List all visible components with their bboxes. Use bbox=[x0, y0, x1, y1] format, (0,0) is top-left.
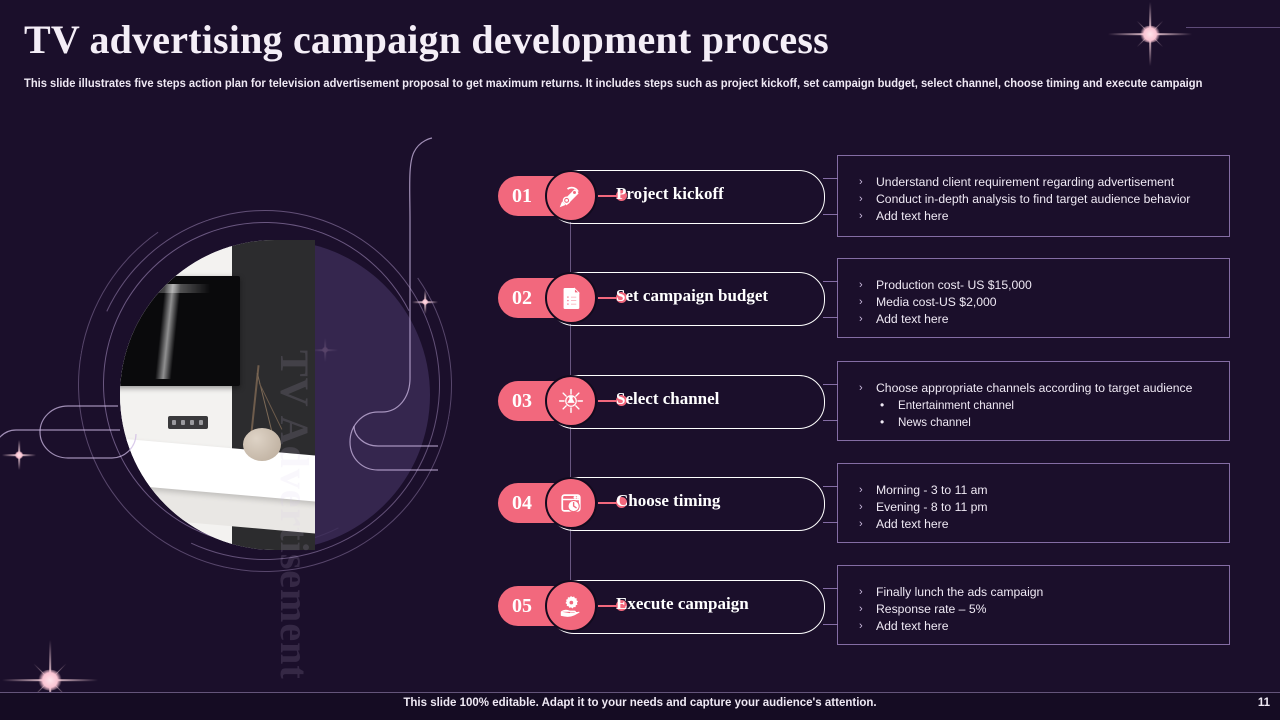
step-label-3: Select channel bbox=[616, 389, 719, 409]
chevron-right-icon: › bbox=[859, 294, 863, 311]
slide-canvas: TV advertising campaign development proc… bbox=[0, 0, 1280, 720]
browser-clock-icon bbox=[545, 477, 597, 529]
step-detail-box-4: ›Morning - 3 to 11 am ›Evening - 8 to 11… bbox=[837, 463, 1230, 543]
step-detail-box-2: ›Production cost- US $15,000 ›Media cost… bbox=[837, 258, 1230, 338]
chevron-right-icon: › bbox=[859, 601, 863, 618]
step-number-1: 01 bbox=[512, 185, 532, 208]
step-label-5: Execute campaign bbox=[616, 594, 749, 614]
step-detail-list-1: ›Understand client requirement regarding… bbox=[838, 174, 1229, 225]
broadcast-tower-icon bbox=[545, 375, 597, 427]
step-label-4: Choose timing bbox=[616, 491, 720, 511]
step-detail-list-5: ›Finally lunch the ads campaign ›Respons… bbox=[838, 584, 1229, 635]
gear-in-hand-icon bbox=[545, 580, 597, 632]
step-detail-box-3: ›Choose appropriate channels according t… bbox=[837, 361, 1230, 441]
step-detail-list-2: ›Production cost- US $15,000 ›Media cost… bbox=[838, 277, 1229, 328]
detail-item: ›Choose appropriate channels according t… bbox=[838, 380, 1229, 397]
detail-subitem: •News channel bbox=[838, 414, 1229, 431]
step-number-3: 03 bbox=[512, 390, 532, 413]
bullet-icon: • bbox=[880, 397, 884, 414]
detail-item: ›Finally lunch the ads campaign bbox=[838, 584, 1229, 601]
step-detail-box-1: ›Understand client requirement regarding… bbox=[837, 155, 1230, 237]
detail-item: ›Morning - 3 to 11 am bbox=[838, 482, 1229, 499]
chevron-right-icon: › bbox=[859, 584, 863, 601]
detail-item: ›Add text here bbox=[838, 311, 1229, 328]
detail-item: ›Response rate – 5% bbox=[838, 601, 1229, 618]
detail-item: ›Evening - 8 to 11 pm bbox=[838, 499, 1229, 516]
page-number: 11 bbox=[1258, 697, 1270, 709]
chevron-right-icon: › bbox=[859, 380, 863, 397]
step-label-1: Project kickoff bbox=[616, 184, 724, 204]
detail-item: ›Add text here bbox=[838, 516, 1229, 533]
chevron-right-icon: › bbox=[859, 174, 863, 191]
step-number-2: 02 bbox=[512, 287, 532, 310]
detail-item: ›Understand client requirement regarding… bbox=[838, 174, 1229, 191]
chevron-right-icon: › bbox=[859, 516, 863, 533]
rocket-target-icon bbox=[545, 170, 597, 222]
step-detail-list-3: ›Choose appropriate channels according t… bbox=[838, 380, 1229, 431]
step-detail-box-5: ›Finally lunch the ads campaign ›Respons… bbox=[837, 565, 1230, 645]
chevron-right-icon: › bbox=[859, 482, 863, 499]
footer-divider bbox=[0, 692, 1280, 693]
chevron-right-icon: › bbox=[859, 191, 863, 208]
document-checklist-icon bbox=[545, 272, 597, 324]
detail-item: ›Media cost-US $2,000 bbox=[838, 294, 1229, 311]
detail-subitem: •Entertainment channel bbox=[838, 397, 1229, 414]
step-label-2: Set campaign budget bbox=[616, 286, 768, 306]
chevron-right-icon: › bbox=[859, 277, 863, 294]
step-number-4: 04 bbox=[512, 492, 532, 515]
footer-note: This slide 100% editable. Adapt it to yo… bbox=[0, 697, 1280, 709]
chevron-right-icon: › bbox=[859, 311, 863, 328]
bullet-icon: • bbox=[880, 414, 884, 431]
detail-item: ›Production cost- US $15,000 bbox=[838, 277, 1229, 294]
detail-item: ›Conduct in-depth analysis to find targe… bbox=[838, 191, 1229, 208]
process-steps: 01 Project kickoff ›Understand client re… bbox=[0, 0, 1280, 720]
chevron-right-icon: › bbox=[859, 499, 863, 516]
detail-item: ›Add text here bbox=[838, 208, 1229, 225]
step-number-5: 05 bbox=[512, 595, 532, 618]
chevron-right-icon: › bbox=[859, 618, 863, 635]
chevron-right-icon: › bbox=[859, 208, 863, 225]
step-detail-list-4: ›Morning - 3 to 11 am ›Evening - 8 to 11… bbox=[838, 482, 1229, 533]
detail-item: ›Add text here bbox=[838, 618, 1229, 635]
